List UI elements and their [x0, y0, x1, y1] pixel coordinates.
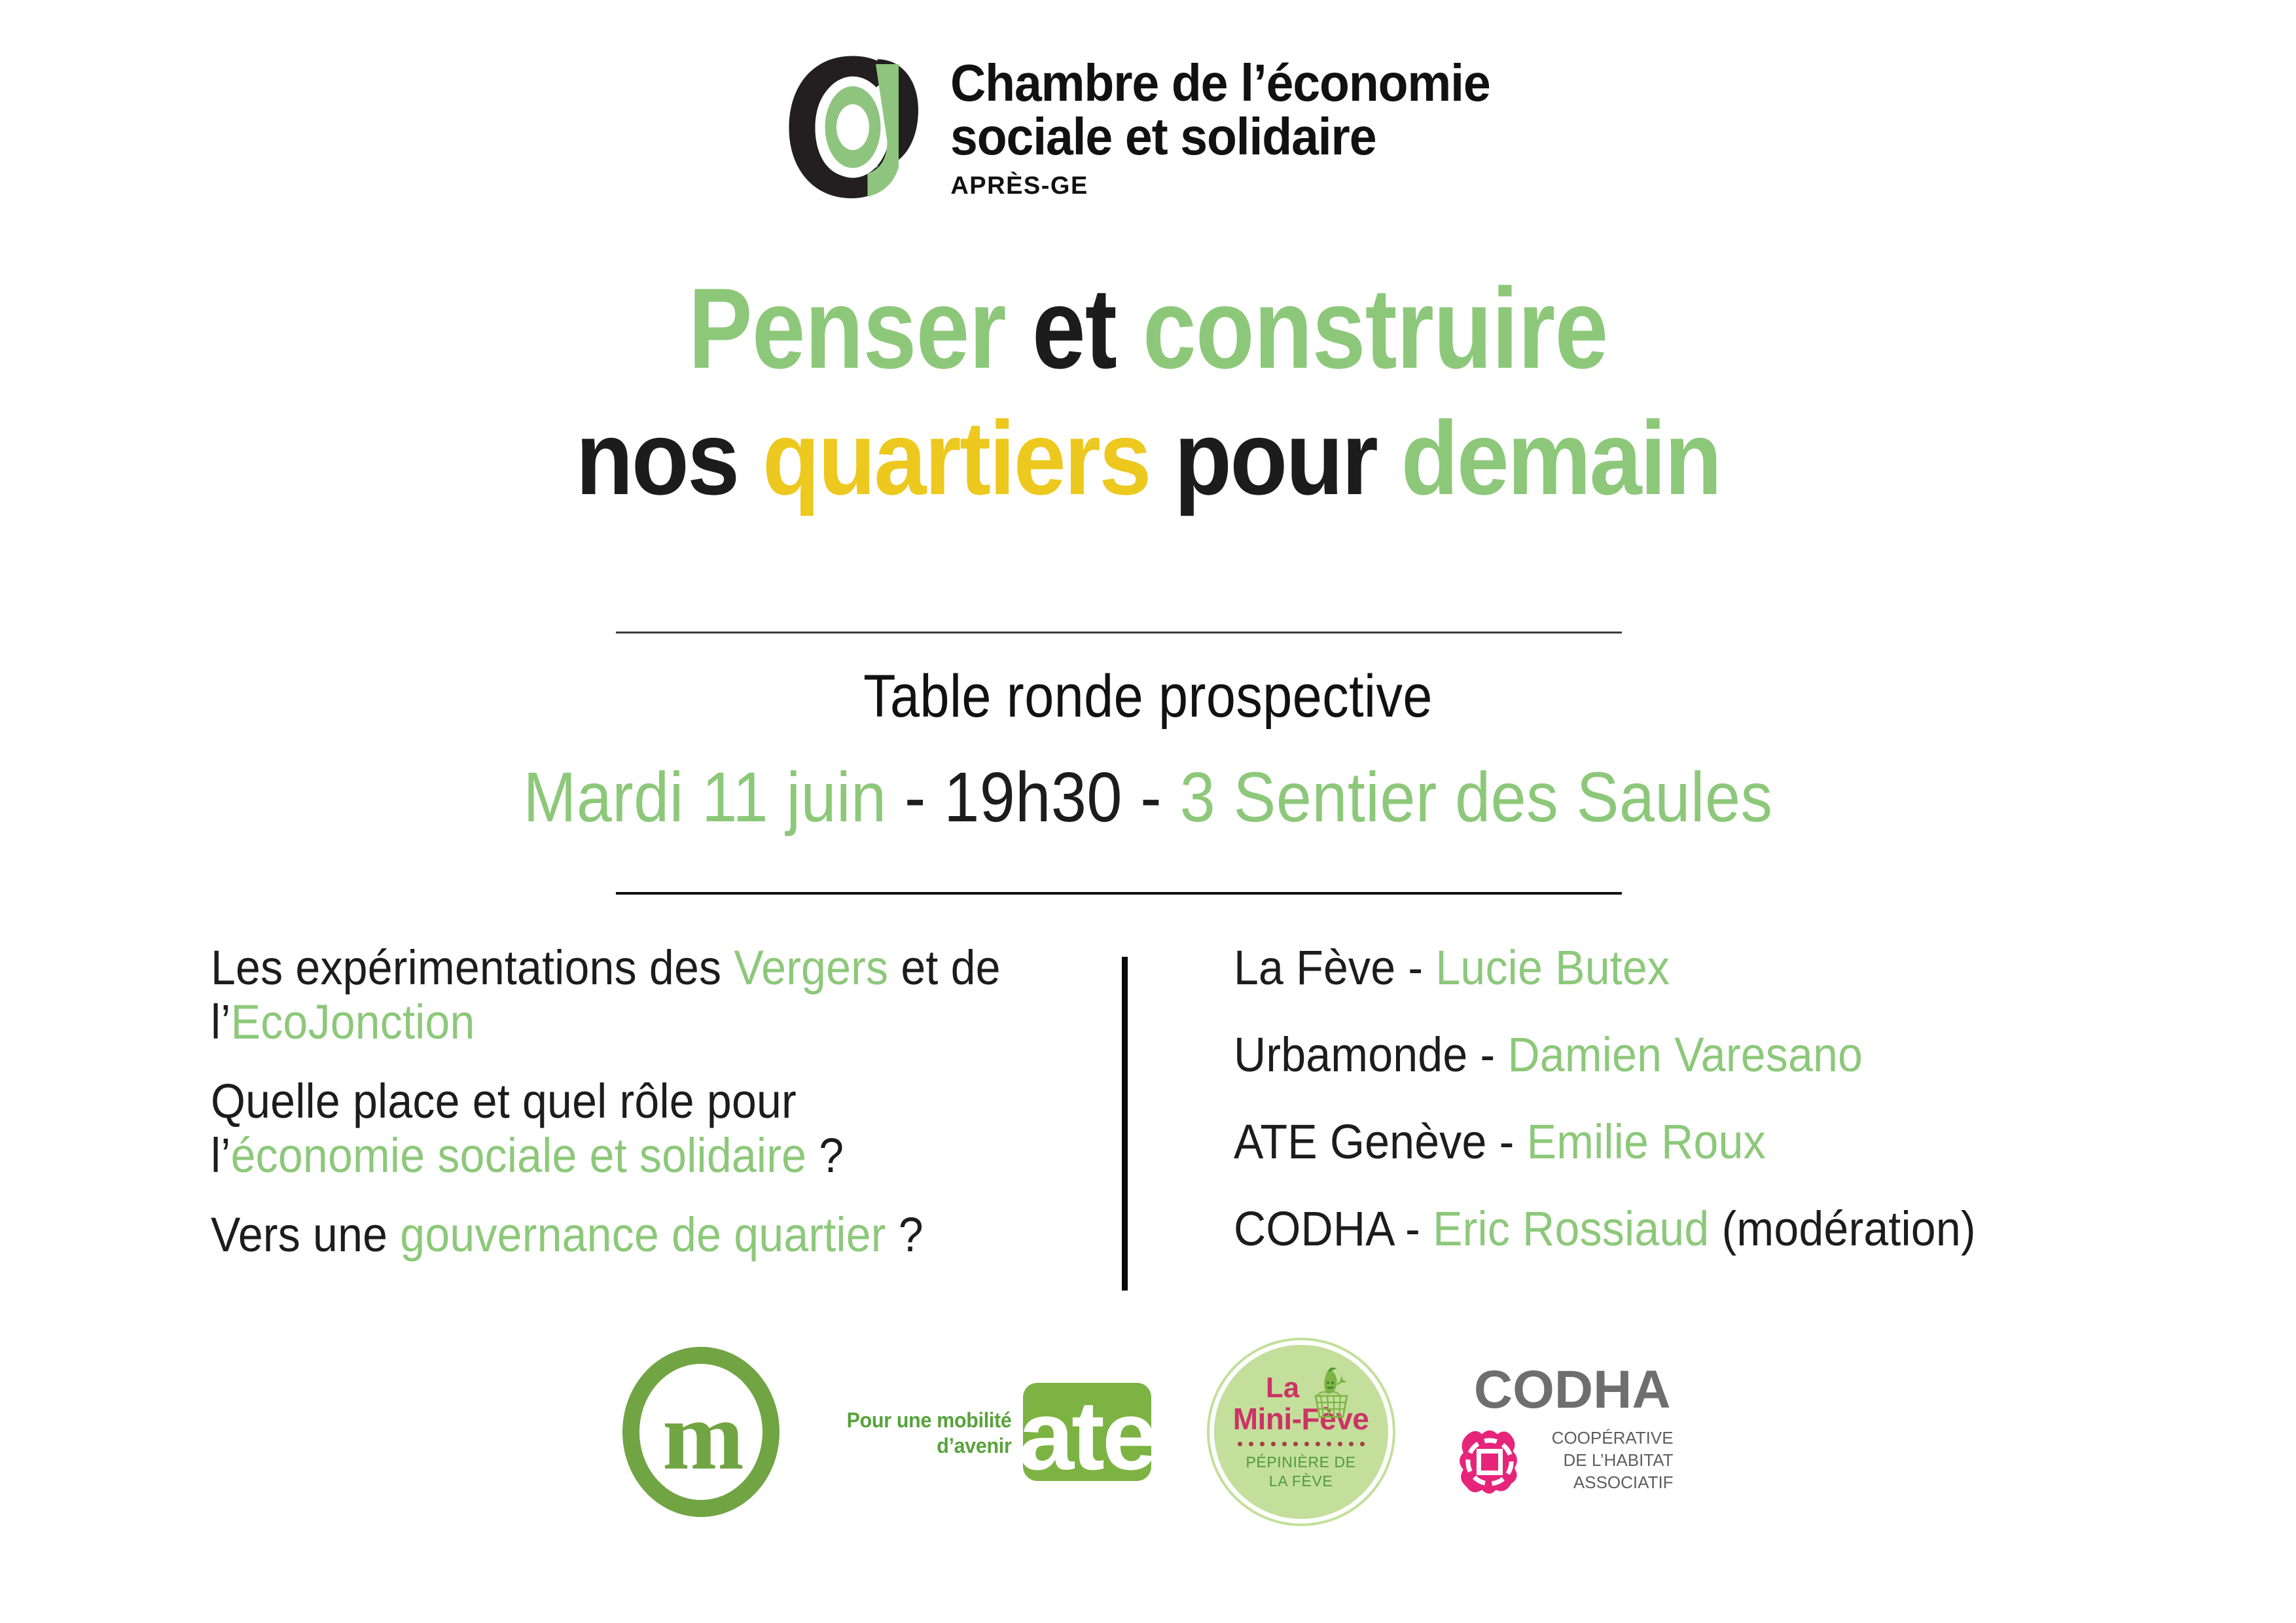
topic-item: Quelle place et quel rôle pour l’économi… [211, 1075, 1012, 1183]
speaker-name: Lucie Butex [1435, 940, 1670, 995]
speaker-org: La Fève [1234, 940, 1395, 995]
ate-logo: Pour une mobilité d’avenir ate [842, 1383, 1151, 1481]
text-run-green: économie sociale et solidaire [231, 1128, 807, 1183]
mini-feve-dot-divider [1238, 1442, 1365, 1446]
ate-tagline-line1: Pour une mobilité [847, 1408, 1012, 1433]
org-acronym: APRÈS-GE [950, 172, 1524, 200]
sprout-basket-icon [1306, 1367, 1354, 1419]
mini-feve-sub-line1: PÉPINIÈRE DE [1246, 1453, 1355, 1472]
event-time: 19h30 [944, 757, 1122, 836]
org-name-line2: sociale et solidaire [950, 110, 1490, 164]
codha-emblem-icon [1451, 1423, 1528, 1501]
partner-logos: m Pour une mobilité d’avenir ate La Mini… [0, 1345, 2296, 1519]
speaker-name: Damien Varesano [1507, 1027, 1863, 1082]
event-address: 3 Sentier des Saules [1180, 757, 1773, 836]
topic-item: Les expérimentations des Vergers et de l… [211, 941, 1012, 1050]
apres-ge-logo-icon [771, 45, 935, 208]
org-logo-block: Chambre de l’économie sociale et solidai… [771, 39, 1524, 208]
speaker-org: CODHA [1234, 1202, 1393, 1256]
codha-sub-line1: COOPÉRATIVE [1537, 1427, 1674, 1450]
text-run-yellow: quartiers [762, 399, 1174, 516]
speaker-dash: - [1395, 940, 1435, 995]
event-subtitle: Table ronde prospective [137, 662, 2158, 731]
ate-wordmark: ate [1023, 1390, 1151, 1482]
text-run-green: EcoJonction [231, 995, 475, 1049]
speaker-org: Urbamonde [1234, 1027, 1467, 1082]
codha-mark-row: COOPÉRATIVE DE L’HABITAT ASSOCIATIF [1451, 1423, 1674, 1501]
text-run-black: pour [1174, 399, 1401, 516]
m-logo-letter: m [622, 1387, 780, 1485]
codha-wordmark: CODHA [1451, 1363, 1674, 1417]
column-divider [1122, 957, 1128, 1291]
speaker-name: Eric Rossiaud [1433, 1202, 1709, 1256]
ate-tagline: Pour une mobilité d’avenir [847, 1408, 1012, 1481]
org-logo-text: Chambre de l’économie sociale et solidai… [950, 39, 1524, 200]
m-logo-icon: m [622, 1347, 780, 1517]
mini-feve-subtitle: PÉPINIÈRE DE LA FÈVE [1246, 1453, 1355, 1491]
speaker-item: CODHA - Eric Rossiaud (modération) [1234, 1202, 2077, 1257]
poster-title: Penser et construire nos quartiers pour … [0, 272, 2296, 510]
speaker-item: La Fève - Lucie Butex [1234, 941, 2077, 995]
speaker-org: ATE Genève [1234, 1115, 1487, 1169]
event-dateline: Mardi 11 juin - 19h30 - 3 Sentier des Sa… [115, 756, 2181, 838]
text-run-black: et [1032, 265, 1143, 393]
text-run-green: gouvernance de quartier [400, 1207, 886, 1262]
speaker-dash: - [1467, 1027, 1507, 1082]
speaker-dash: - [1487, 1115, 1527, 1169]
text-run-black: Vers une [211, 1207, 400, 1262]
topics-column: Les expérimentations des Vergers et de l… [211, 941, 1081, 1287]
org-header: Chambre de l’économie sociale et solidai… [0, 39, 2296, 208]
speaker-note: (modération) [1709, 1202, 1975, 1256]
text-run-green: construire [1143, 265, 1607, 393]
mini-feve-sub-line2: LA FÈVE [1246, 1472, 1355, 1491]
title-line-1: Penser et construire [184, 272, 2113, 386]
speakers-column: La Fève - Lucie Butex Urbamonde - Damien… [1234, 941, 2150, 1289]
text-run-black: Les expérimentations des [211, 940, 734, 995]
speaker-item: Urbamonde - Damien Varesano [1234, 1028, 2077, 1082]
speaker-dash: - [1393, 1202, 1433, 1256]
divider-rule-top [616, 632, 1622, 633]
dateline-separator-1: - [887, 757, 944, 836]
text-run-black: nos [576, 399, 762, 516]
codha-logo: CODHA COOPÉRATIVE DE L’HABITAT ASSOCIATI… [1451, 1363, 1674, 1501]
ate-tagline-line2: d’avenir [847, 1433, 1012, 1459]
ate-wordmark-box: ate [1023, 1383, 1151, 1481]
text-run-green: Vergers [734, 940, 888, 995]
codha-subtitle: COOPÉRATIVE DE L’HABITAT ASSOCIATIF [1537, 1423, 1674, 1493]
mini-feve-logo: La Mini-Fève PÉPINIÈRE DE LA FÈVE [1214, 1345, 1388, 1519]
title-line-2: nos quartiers pour demain [115, 406, 2181, 510]
org-name-line1: Chambre de l’économie [950, 56, 1490, 110]
text-run-green: demain [1401, 399, 1720, 516]
text-run-black: ? [806, 1128, 844, 1183]
event-date: Mardi 11 juin [523, 757, 886, 836]
codha-sub-line3: ASSOCIATIF [1537, 1472, 1674, 1494]
speaker-name: Emilie Roux [1527, 1115, 1766, 1169]
dateline-separator-2: - [1122, 757, 1180, 836]
topic-item: Vers une gouvernance de quartier ? [211, 1208, 1012, 1262]
text-run-black: ? [886, 1207, 924, 1262]
divider-rule-bottom [616, 892, 1622, 895]
codha-sub-line2: DE L’HABITAT [1537, 1450, 1674, 1472]
mini-feve-la: La [1266, 1374, 1299, 1402]
text-run-green: Penser [689, 265, 1032, 393]
speaker-item: ATE Genève - Emilie Roux [1234, 1115, 2077, 1169]
